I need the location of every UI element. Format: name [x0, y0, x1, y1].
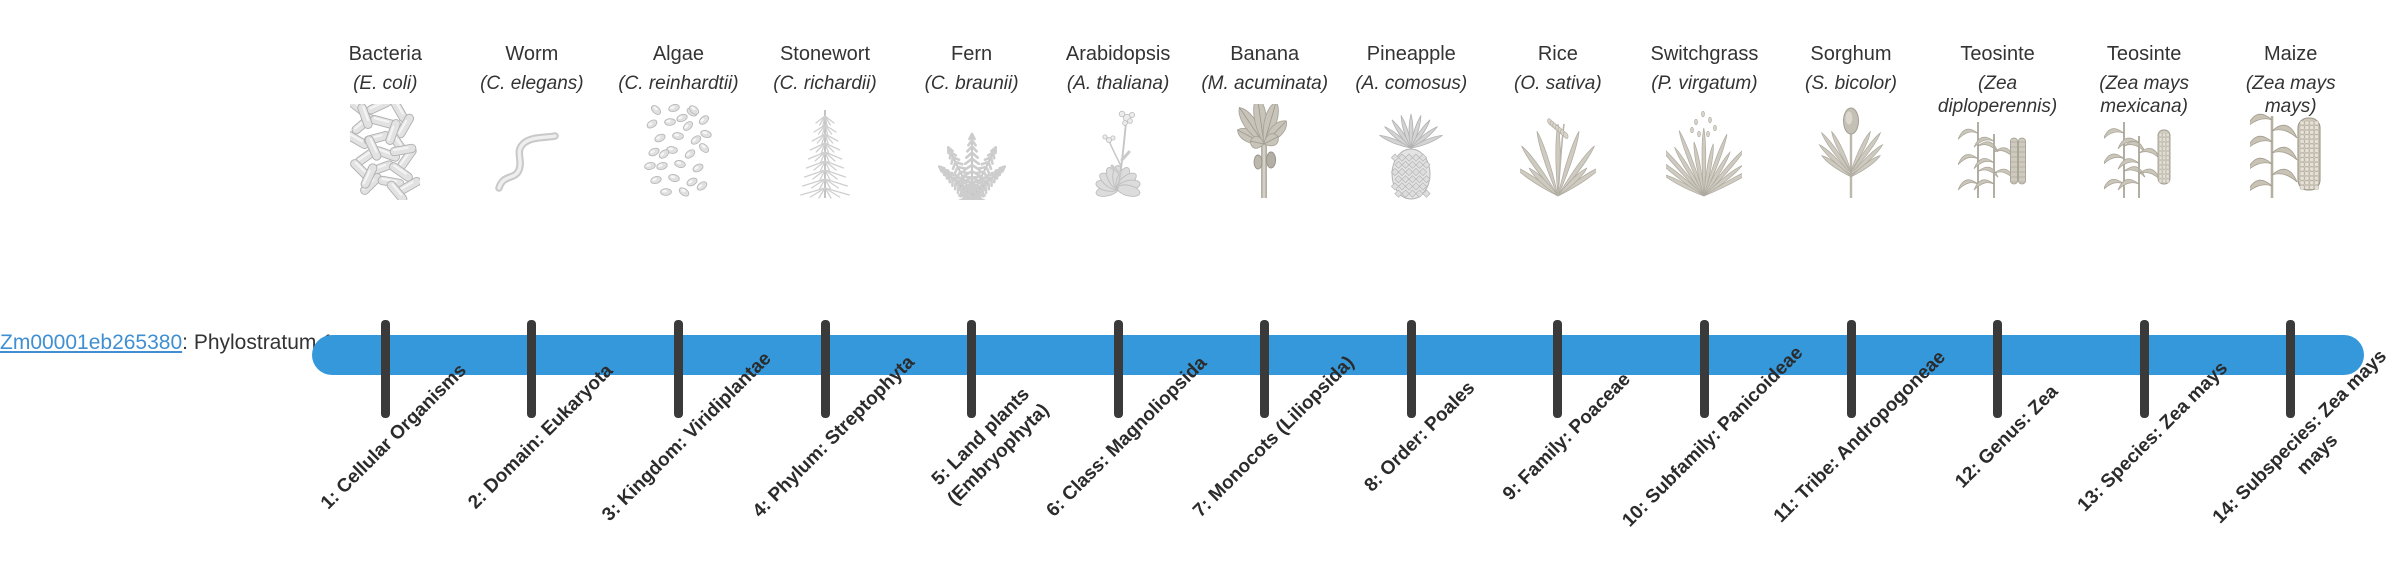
algae-cells-illustration: [605, 110, 752, 200]
sorghum-illustration: [1778, 110, 1925, 200]
species-scientific-name: (C. braunii): [900, 72, 1043, 95]
phylostratum-figure: Zm00001eb265380: Phylostratum 1 Bacteria…: [0, 0, 2400, 580]
gene-phylostratum-label: Zm00001eb265380: Phylostratum 1: [0, 330, 290, 356]
stonewort-illustration: [752, 110, 899, 200]
species-scientific-name: (S. bicolor): [1780, 72, 1923, 95]
pineapple-illustration: [1338, 110, 1485, 200]
phylostratum-tick: [821, 320, 830, 418]
phylostratum-tick: [1553, 320, 1562, 418]
phylostratum-tick: [967, 320, 976, 418]
phylostratum-tick: [1847, 320, 1856, 418]
species-scientific-name: (C. elegans): [461, 72, 604, 95]
phylostratum-tick: [674, 320, 683, 418]
switchgrass-illustration: [1631, 110, 1778, 200]
fern-illustration: [898, 110, 1045, 200]
rice-plant-illustration: [1485, 110, 1632, 200]
phylostratum-tick: [1407, 320, 1416, 418]
arabidopsis-rosette-illustration: [1045, 110, 1192, 200]
species-track: Bacteria(E. coli)1: Cellular OrganismsWo…: [312, 0, 2364, 580]
species-scientific-name: (O. sativa): [1487, 72, 1630, 95]
maize-plant-and-ear-illustration: [2217, 110, 2364, 200]
phylostratum-tick: [1114, 320, 1123, 418]
bacteria-rods-illustration: [312, 110, 459, 200]
species-scientific-name: (E. coli): [314, 72, 457, 95]
species-scientific-name: (C. reinhardtii): [607, 72, 750, 95]
phylostratum-tick: [2286, 320, 2295, 418]
species-common-name: Maize: [2203, 42, 2378, 66]
phylostratum-tick: [527, 320, 536, 418]
gene-label-separator: :: [182, 331, 194, 354]
gene-id-link[interactable]: Zm00001eb265380: [0, 331, 182, 354]
phylostratum-tick: [1993, 320, 2002, 418]
phylostratum-tick: [2140, 320, 2149, 418]
species-scientific-name: (M. acuminata): [1193, 72, 1336, 95]
species-scientific-name: (A. comosus): [1340, 72, 1483, 95]
phylostratum-tick: [381, 320, 390, 418]
species-scientific-name: (A. thaliana): [1047, 72, 1190, 95]
nematode-worm-illustration: [459, 110, 606, 200]
teosinte-mexicana-illustration: [2071, 110, 2218, 200]
phylostratum-tick: [1700, 320, 1709, 418]
species-scientific-name: (P. virgatum): [1633, 72, 1776, 95]
banana-plant-illustration: [1191, 110, 1338, 200]
teosinte-diploperennis-illustration: [1924, 110, 2071, 200]
species-scientific-name: (C. richardii): [754, 72, 897, 95]
phylostratum-tick: [1260, 320, 1269, 418]
